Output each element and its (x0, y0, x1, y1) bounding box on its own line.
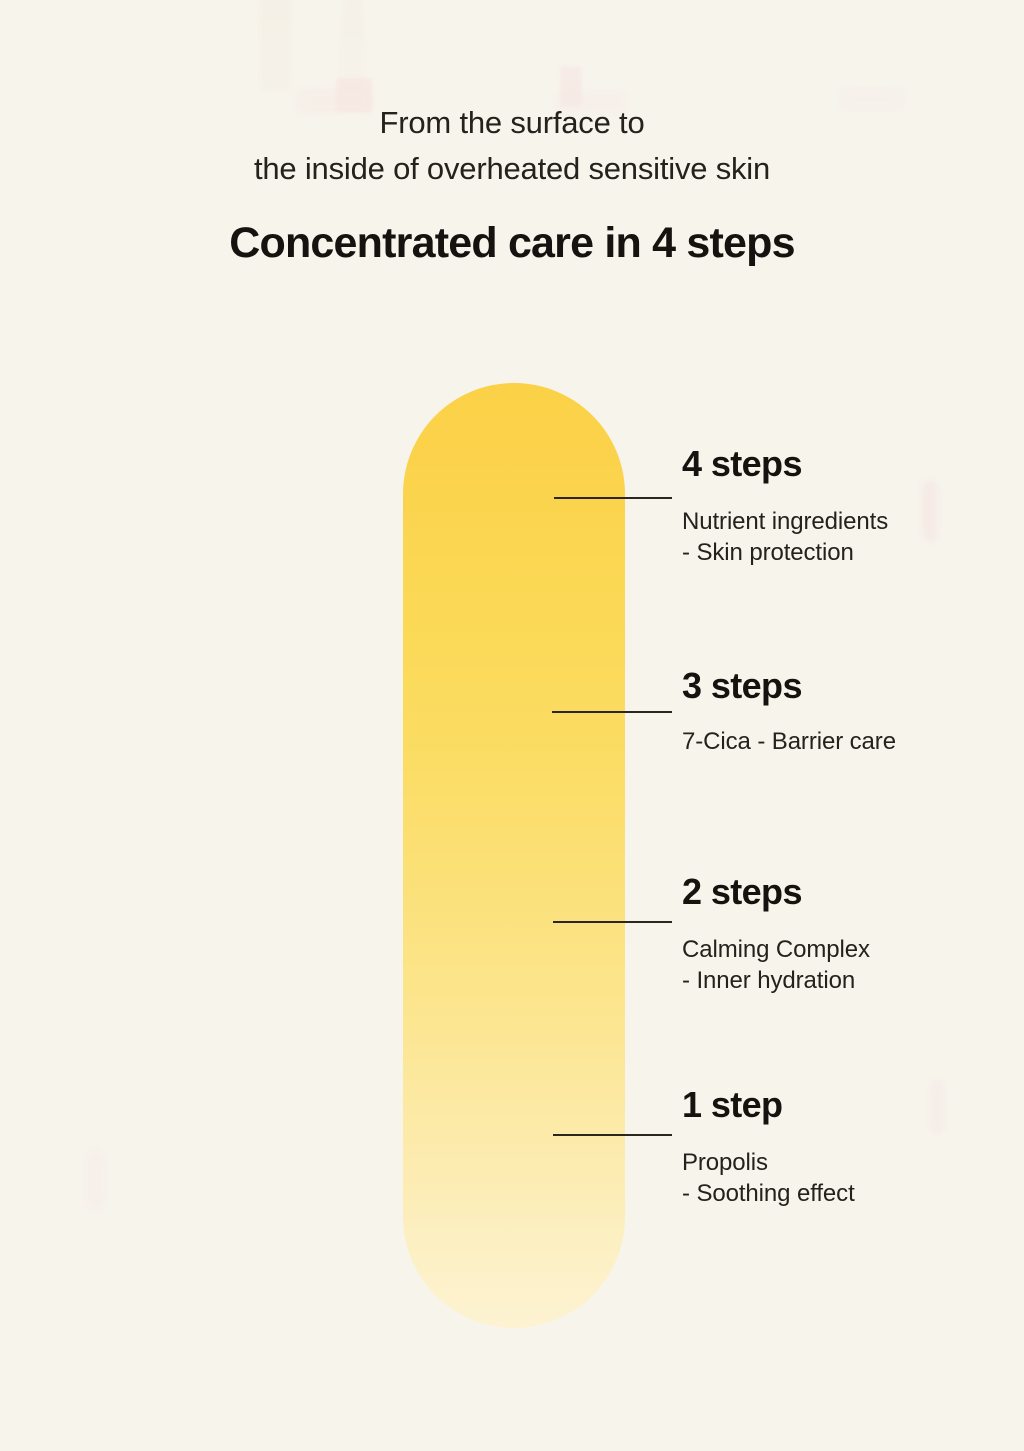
watermark-streak-icon (86, 1150, 104, 1210)
subheadline-line-2: the inside of overheated sensitive skin (0, 146, 1024, 192)
page-title: Concentrated care in 4 steps (0, 218, 1024, 268)
step-3-desc-line-1: 7-Cica - Barrier care (682, 726, 896, 757)
step-4-desc-line-1: Nutrient ingredients (682, 506, 888, 537)
leader-line-step-2 (553, 921, 672, 923)
leader-line-step-4 (554, 497, 672, 499)
leader-line-step-3 (552, 711, 672, 713)
leader-line-step-1 (553, 1134, 672, 1136)
watermark-streak-icon (922, 480, 938, 542)
infographic-page: From the surface to the inside of overhe… (0, 0, 1024, 1451)
step-4-title: 4 steps (682, 444, 802, 484)
watermark-streak-icon (930, 1080, 944, 1134)
watermark-tube-icon (340, 0, 366, 94)
step-1-desc-line-2: - Soothing effect (682, 1178, 855, 1209)
step-1-desc-line-1: Propolis (682, 1147, 768, 1178)
header-block: From the surface to the inside of overhe… (0, 100, 1024, 268)
step-2-title: 2 steps (682, 872, 802, 912)
step-4-desc-line-2: - Skin protection (682, 537, 854, 568)
subheadline-line-1: From the surface to (0, 100, 1024, 146)
watermark-bottle-icon (258, 0, 292, 90)
step-2-desc-line-1: Calming Complex (682, 934, 870, 965)
step-3-title: 3 steps (682, 666, 802, 706)
step-2-desc-line-2: - Inner hydration (682, 965, 855, 996)
step-1-title: 1 step (682, 1085, 782, 1125)
gradient-capsule-graphic (403, 383, 625, 1328)
